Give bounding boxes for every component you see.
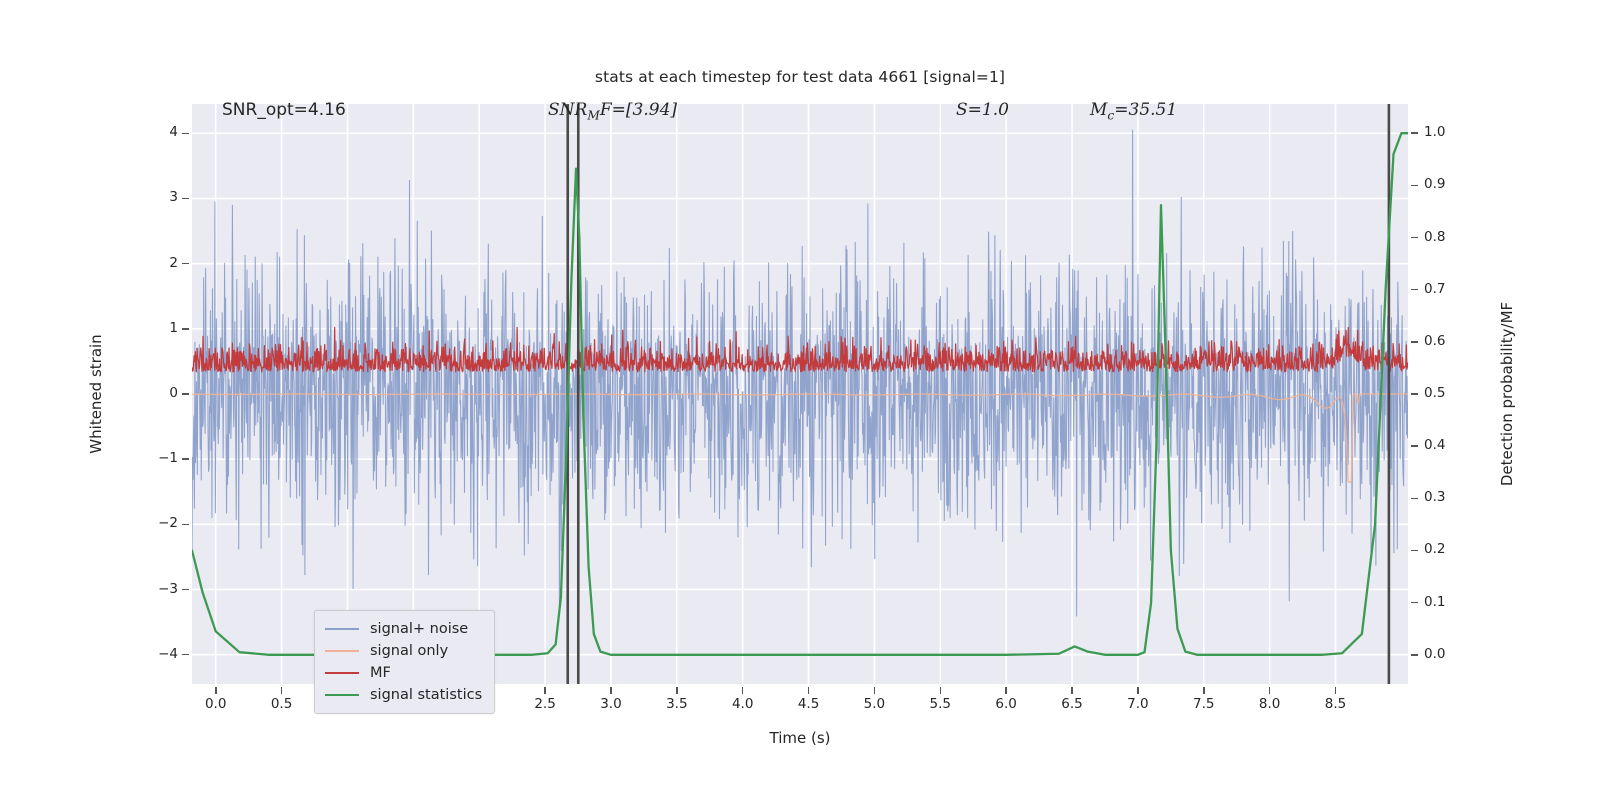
- y-tick-mark-left-6: [182, 524, 189, 526]
- legend-item-0[interactable]: signal+ noise: [325, 618, 482, 640]
- x-tick-mark-6: [610, 687, 612, 694]
- y-tick-right-7: 0.3: [1424, 489, 1470, 505]
- x-tick-mark-5: [544, 687, 546, 694]
- y-tick-mark-right-0: [1411, 132, 1418, 134]
- annotation-s-value: S=1.0: [956, 100, 1009, 120]
- plot-area: [192, 104, 1408, 684]
- x-tick-1: 0.5: [252, 696, 312, 712]
- annotation-mc-tail: =35.51: [1114, 100, 1177, 120]
- y-tick-left-0: 4: [130, 124, 178, 140]
- y-tick-mark-left-8: [182, 654, 189, 656]
- x-tick-mark-11: [940, 687, 942, 694]
- x-tick-7: 3.5: [647, 696, 707, 712]
- x-tick-mark-1: [281, 687, 283, 694]
- y-tick-mark-right-3: [1411, 289, 1418, 291]
- y-tick-mark-right-7: [1411, 498, 1418, 500]
- x-tick-mark-17: [1335, 687, 1337, 694]
- y-tick-mark-right-2: [1411, 237, 1418, 239]
- x-tick-mark-9: [808, 687, 810, 694]
- x-tick-0: 0.0: [186, 696, 246, 712]
- legend-swatch-icon-2: [325, 672, 359, 674]
- x-tick-mark-7: [676, 687, 678, 694]
- y-tick-mark-left-0: [182, 133, 189, 135]
- legend-swatch-icon-1: [325, 650, 359, 652]
- legend-label-3: signal statistics: [370, 687, 482, 703]
- x-tick-mark-15: [1203, 687, 1205, 694]
- y-tick-left-2: 2: [130, 255, 178, 271]
- x-tick-mark-8: [742, 687, 744, 694]
- legend-label-2: MF: [370, 665, 391, 681]
- y-tick-mark-left-5: [182, 458, 189, 460]
- y-tick-left-6: −2: [130, 515, 178, 531]
- legend-item-3[interactable]: signal statistics: [325, 684, 482, 706]
- x-tick-16: 8.0: [1240, 696, 1300, 712]
- y-tick-left-3: 1: [130, 320, 178, 336]
- series-signal-noise: [192, 130, 1408, 616]
- chart-title: stats at each timestep for test data 466…: [0, 68, 1600, 86]
- legend-label-1: signal only: [370, 643, 448, 659]
- annotation-snr-mf: SNRMF=[3.94]: [548, 100, 677, 122]
- x-tick-17: 8.5: [1306, 696, 1366, 712]
- x-tick-10: 5.0: [844, 696, 904, 712]
- y-tick-right-1: 0.9: [1424, 176, 1470, 192]
- y-tick-left-7: −3: [130, 581, 178, 597]
- annotation-chirp-mass: Mc=35.51: [1090, 100, 1177, 122]
- x-axis-label: Time (s): [0, 729, 1600, 747]
- y-tick-left-5: −1: [130, 450, 178, 466]
- x-tick-14: 7.0: [1108, 696, 1168, 712]
- y-tick-mark-right-9: [1411, 602, 1418, 604]
- legend-swatch-icon-3: [325, 694, 359, 696]
- x-tick-mark-12: [1005, 687, 1007, 694]
- x-tick-mark-13: [1071, 687, 1073, 694]
- series-matched-filter: [192, 328, 1408, 372]
- y-tick-right-2: 0.8: [1424, 229, 1470, 245]
- y-tick-right-0: 1.0: [1424, 124, 1470, 140]
- x-tick-6: 3.0: [581, 696, 641, 712]
- y-tick-mark-left-7: [182, 589, 189, 591]
- y-tick-right-3: 0.7: [1424, 281, 1470, 297]
- x-tick-12: 6.0: [976, 696, 1036, 712]
- y-tick-mark-left-4: [182, 393, 189, 395]
- y-tick-mark-left-3: [182, 328, 189, 330]
- x-tick-8: 4.0: [713, 696, 773, 712]
- y-tick-mark-right-1: [1411, 185, 1418, 187]
- annotation-snr-mf-tail: F=[3.94]: [600, 100, 677, 120]
- legend-label-0: signal+ noise: [370, 621, 468, 637]
- x-tick-15: 7.5: [1174, 696, 1234, 712]
- x-tick-mark-14: [1137, 687, 1139, 694]
- y-tick-mark-right-6: [1411, 445, 1418, 447]
- y-tick-mark-right-10: [1411, 654, 1418, 656]
- y-tick-right-10: 0.0: [1424, 646, 1470, 662]
- legend: signal+ noisesignal onlyMFsignal statist…: [314, 610, 495, 714]
- y-tick-mark-right-5: [1411, 393, 1418, 395]
- x-tick-11: 5.5: [910, 696, 970, 712]
- legend-item-1[interactable]: signal only: [325, 640, 482, 662]
- annotation-s-tail: =1.0: [968, 100, 1009, 120]
- y-axis-left-label: Whitened strain: [87, 334, 105, 453]
- x-tick-5: 2.5: [515, 696, 575, 712]
- y-tick-right-9: 0.1: [1424, 594, 1470, 610]
- legend-swatch-icon-0: [325, 628, 359, 630]
- annotation-snr-mf-lead: SNR: [548, 100, 587, 120]
- y-tick-mark-right-4: [1411, 341, 1418, 343]
- x-tick-mark-10: [874, 687, 876, 694]
- y-tick-right-4: 0.6: [1424, 333, 1470, 349]
- annotation-mc-lead: M: [1090, 100, 1107, 120]
- x-tick-9: 4.5: [779, 696, 839, 712]
- x-tick-mark-0: [215, 687, 217, 694]
- y-tick-left-1: 3: [130, 189, 178, 205]
- figure-canvas: stats at each timestep for test data 466…: [0, 0, 1600, 800]
- y-tick-right-6: 0.4: [1424, 437, 1470, 453]
- y-tick-left-4: 0: [130, 385, 178, 401]
- y-tick-right-5: 0.5: [1424, 385, 1470, 401]
- y-axis-right-label: Detection probability/MF: [1498, 302, 1516, 486]
- annotation-snr-mf-sub: M: [587, 108, 600, 122]
- legend-item-2[interactable]: MF: [325, 662, 482, 684]
- plot-svg: [192, 104, 1408, 684]
- y-tick-left-8: −4: [130, 646, 178, 662]
- annotation-snr-opt: SNR_opt=4.16: [222, 100, 346, 120]
- annotation-s-lead: S: [956, 100, 968, 120]
- y-tick-mark-right-8: [1411, 550, 1418, 552]
- y-tick-right-8: 0.2: [1424, 541, 1470, 557]
- x-tick-13: 6.5: [1042, 696, 1102, 712]
- x-tick-mark-16: [1269, 687, 1271, 694]
- y-tick-mark-left-2: [182, 263, 189, 265]
- y-tick-mark-left-1: [182, 198, 189, 200]
